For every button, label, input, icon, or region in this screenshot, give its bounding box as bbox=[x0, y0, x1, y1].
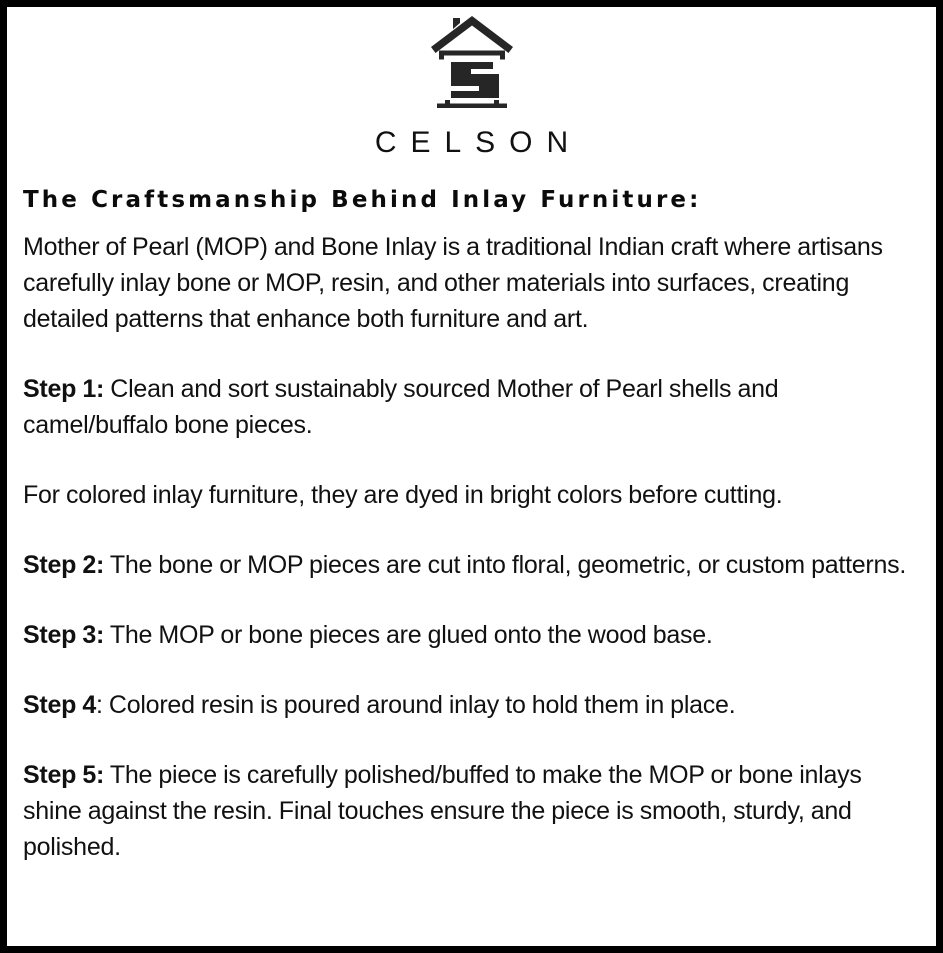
body-content: Mother of Pearl (MOP) and Bone Inlay is … bbox=[23, 213, 920, 865]
paragraph-text: : Colored resin is poured around inlay t… bbox=[96, 691, 735, 719]
paragraph-step-1: Step 1: Clean and sort sustainably sourc… bbox=[23, 371, 920, 443]
paragraph-lead: Step 5: bbox=[23, 761, 104, 789]
paragraph-text: The MOP or bone pieces are glued onto th… bbox=[104, 621, 713, 649]
paragraph-step-3: Step 3: The MOP or bone pieces are glued… bbox=[23, 617, 920, 653]
paragraph-lead: Step 3: bbox=[23, 621, 104, 649]
paragraph-dye-note: For colored inlay furniture, they are dy… bbox=[23, 477, 920, 513]
paragraph-text: The piece is carefully polished/buffed t… bbox=[23, 761, 862, 861]
house-monogram-icon bbox=[429, 12, 515, 112]
paragraph-lead: Step 1: bbox=[23, 375, 104, 403]
page-title: The Craftsmanship Behind Inlay Furniture… bbox=[23, 188, 936, 213]
paragraph-step-5: Step 5: The piece is carefully polished/… bbox=[23, 757, 920, 865]
brand-header: CELSON bbox=[7, 7, 936, 158]
paragraph-text: The bone or MOP pieces are cut into flor… bbox=[104, 551, 906, 579]
poster-card: CELSON The Craftsmanship Behind Inlay Fu… bbox=[0, 0, 943, 953]
paragraph-lead: Step 4 bbox=[23, 691, 96, 719]
paragraph-step-2: Step 2: The bone or MOP pieces are cut i… bbox=[23, 547, 920, 583]
paragraph-text: Mother of Pearl (MOP) and Bone Inlay is … bbox=[23, 233, 883, 333]
brand-wordmark: CELSON bbox=[7, 128, 936, 158]
paragraph-lead: Step 2: bbox=[23, 551, 104, 579]
paragraph-intro: Mother of Pearl (MOP) and Bone Inlay is … bbox=[23, 229, 920, 337]
paragraph-text: For colored inlay furniture, they are dy… bbox=[23, 481, 783, 509]
paragraph-step-4: Step 4: Colored resin is poured around i… bbox=[23, 687, 920, 723]
paragraph-text: Clean and sort sustainably sourced Mothe… bbox=[23, 375, 778, 439]
